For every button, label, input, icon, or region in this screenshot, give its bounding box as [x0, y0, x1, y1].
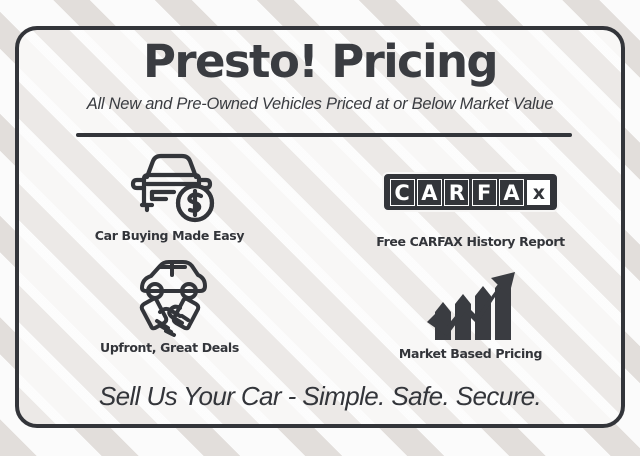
carfax-logo-icon: C A R F A x — [320, 154, 621, 230]
feature-label: Car Buying Made Easy — [19, 228, 320, 243]
footer-tagline: Sell Us Your Car - Simple. Safe. Secure. — [19, 381, 621, 412]
banner-card: Presto! Pricing All New and Pre-Owned Ve… — [15, 26, 625, 428]
page-title: Presto! Pricing — [19, 38, 621, 87]
carfax-letter-c: C — [390, 179, 415, 206]
feature-item: Car Buying Made Easy — [19, 148, 320, 243]
banner-subtitle: All New and Pre-Owned Vehicles Priced at… — [19, 95, 621, 114]
carfax-letter-a1: A — [417, 179, 442, 206]
feature-label: Free CARFAX History Report — [320, 234, 621, 249]
carfax-letter-a2: A — [499, 179, 524, 206]
promo-banner: Presto! Pricing All New and Pre-Owned Ve… — [0, 0, 640, 456]
feature-grid: Car Buying Made Easy C A R F A x — [19, 148, 621, 380]
carfax-letter-f: F — [472, 179, 497, 206]
car-front-with-dollar-icon — [19, 148, 320, 224]
feature-label: Upfront, Great Deals — [19, 340, 320, 355]
handshake-with-car-icon — [19, 260, 320, 336]
header-divider — [76, 133, 572, 137]
feature-item: C A R F A x Free CARFAX History Report — [320, 154, 621, 249]
carfax-letter-r: R — [444, 179, 469, 206]
feature-label: Market Based Pricing — [320, 346, 621, 361]
feature-item: Market Based Pricing — [320, 266, 621, 361]
carfax-letter-x: x — [526, 179, 551, 206]
bar-chart-growth-arrow-icon — [320, 266, 621, 342]
feature-item: Upfront, Great Deals — [19, 260, 320, 355]
carfax-logo: C A R F A x — [384, 174, 557, 210]
